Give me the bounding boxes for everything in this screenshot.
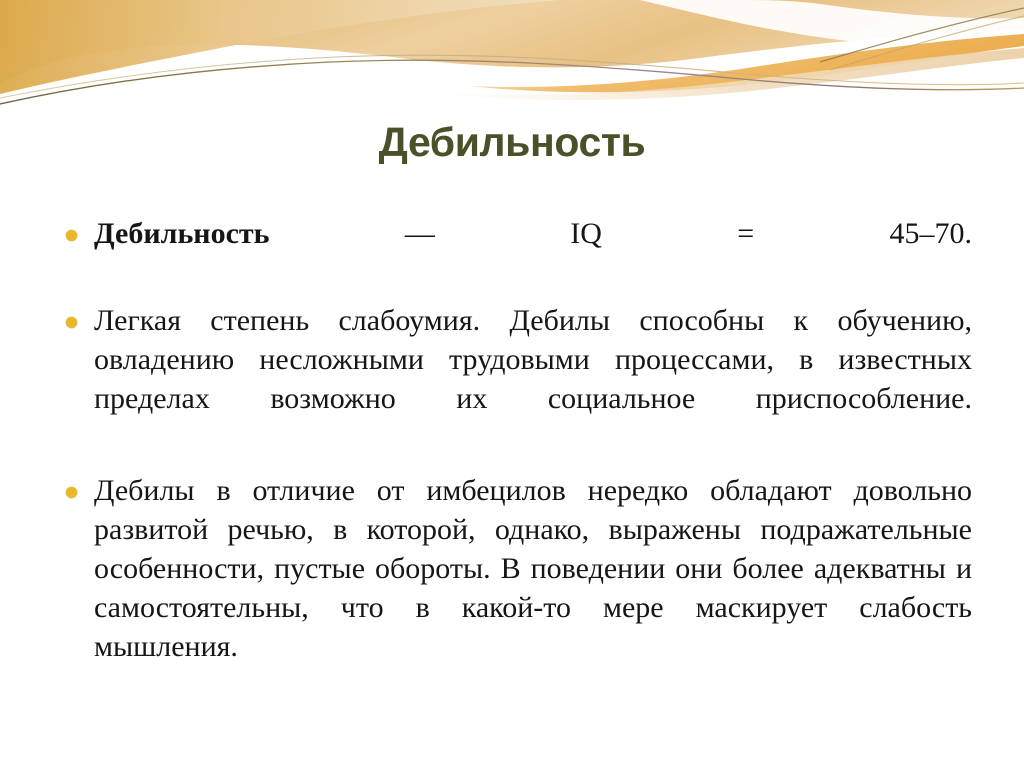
bullet-1-lead-term: Дебильность bbox=[94, 217, 270, 250]
bullet-text: Дебильность — IQ = 45–70. bbox=[94, 214, 972, 292]
bullet-list-item: Легкая степень слабоумия. Дебилы способн… bbox=[60, 301, 972, 457]
slide-body-content: Дебильность — IQ = 45–70. Легкая степень… bbox=[60, 214, 972, 705]
bullet-text: Легкая степень слабоумия. Дебилы способн… bbox=[94, 301, 972, 457]
presentation-slide: Дебильность Дебильность — IQ = 45–70. Ле… bbox=[0, 0, 1024, 767]
bullet-point-icon bbox=[66, 487, 77, 498]
flow-wave-header-decoration bbox=[0, 0, 1024, 112]
bullet-1-rest-text: — IQ = 45–70. bbox=[270, 217, 972, 250]
bullet-list-item: Дебильность — IQ = 45–70. bbox=[60, 214, 972, 292]
bullet-text: Дебилы в отличие от имбецилов нередко об… bbox=[94, 471, 972, 705]
slide-title: Дебильность bbox=[0, 119, 1024, 165]
bullet-list-item: Дебилы в отличие от имбецилов нередко об… bbox=[60, 471, 972, 705]
bullet-point-icon bbox=[66, 317, 77, 328]
bullet-point-icon bbox=[66, 230, 77, 241]
